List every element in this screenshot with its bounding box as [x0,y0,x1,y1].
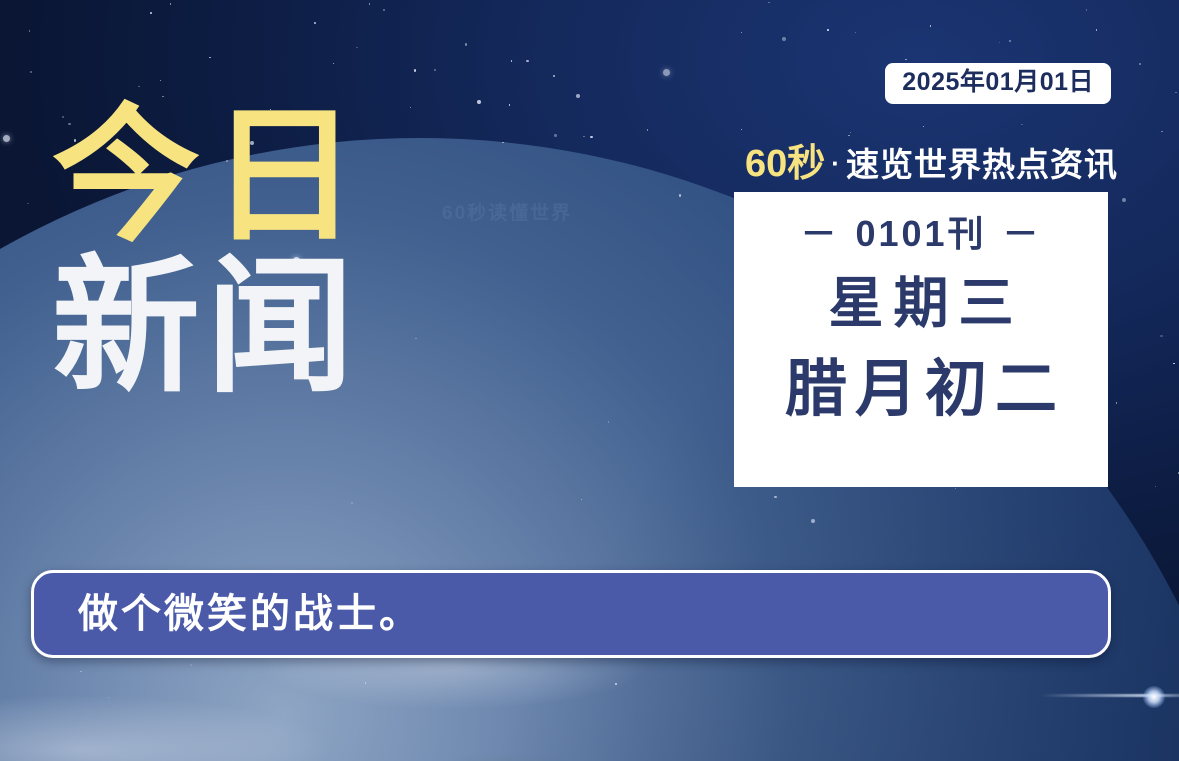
issue-dash-left: － [784,213,855,254]
weekday-text: 星期三 [818,276,1023,331]
tagline-separator: · [825,148,846,178]
issue-line: －0101刊－ [784,214,1057,254]
news-poster: 60秒读懂世界 今日 新闻 2025年01月01日 60秒·速览世界热点资讯 －… [0,0,1179,761]
quote-bar: 做个微笑的战士。 [31,570,1111,658]
tagline-seconds: 60秒 [745,143,825,185]
date-badge: 2025年01月01日 [885,63,1111,104]
lunar-date-text: 腊月初二 [777,359,1065,421]
watermark-text: 60秒读懂世界 [442,198,572,225]
issue-number: 0101刊 [855,213,986,254]
bright-star-icon [1143,686,1165,708]
issue-dash-right: － [987,213,1058,254]
title-line-news: 新闻 [52,255,368,400]
info-card: －0101刊－ 星期三 腊月初二 [734,192,1108,487]
quote-text: 做个微笑的战士。 [78,594,422,634]
tagline: 60秒·速览世界热点资讯 [745,145,1118,183]
poster-title: 今日 新闻 [52,104,368,400]
tagline-description: 速览世界热点资讯 [846,146,1118,183]
title-line-today: 今日 [52,104,368,249]
